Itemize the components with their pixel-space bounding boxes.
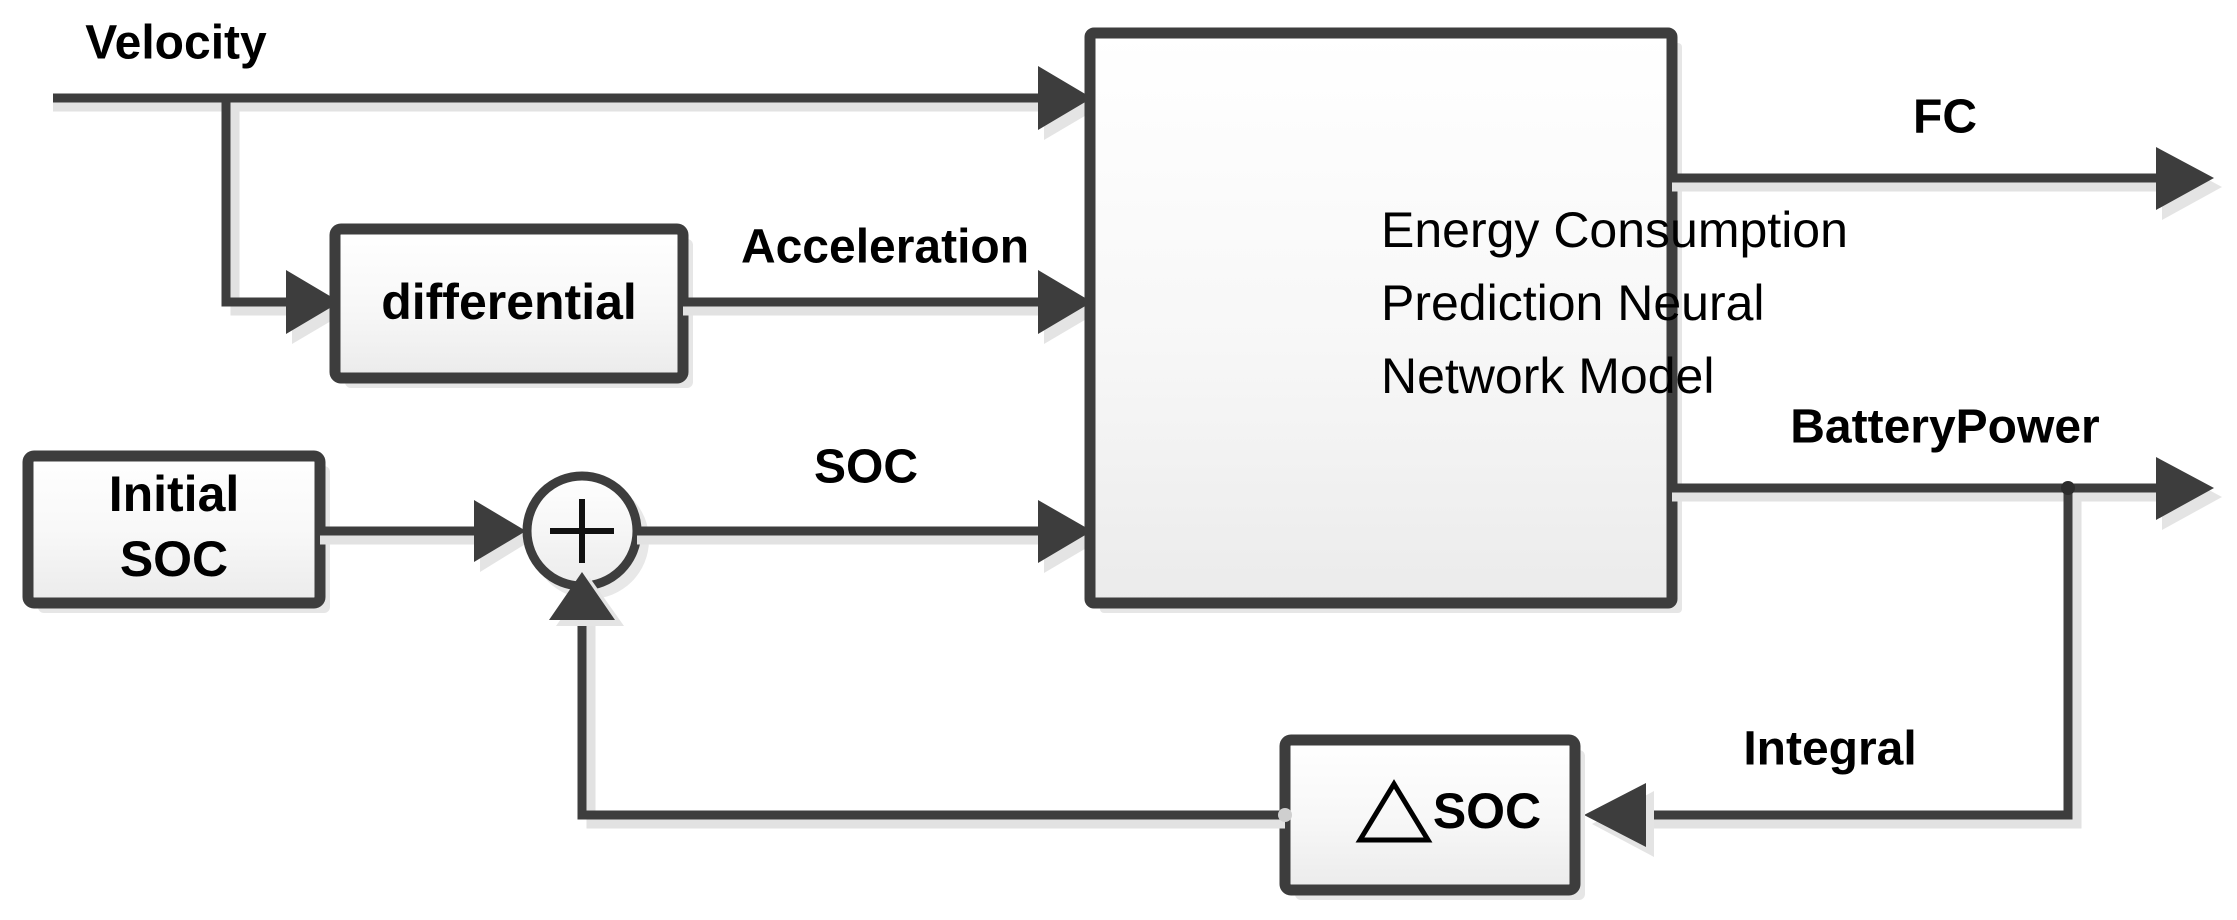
block-energy-model-label-line1: Energy Consumption [1381,202,1848,258]
block-energy-model-label-line2: Prediction Neural [1381,275,1765,331]
signal-label-batterypower: BatteryPower [1790,401,2099,454]
block-energy-model-label-line3: Network Model [1381,348,1714,404]
block-delta-soc[interactable]: SOC △SOC [1285,740,1585,900]
block-diagram-svg: differential Acceleration Velocity Initi… [0,0,2237,920]
block-delta-soc-label-text: SOC [1433,783,1541,839]
block-differential-label: differential [381,274,637,330]
block-diagram-canvas: differential Acceleration Velocity Initi… [0,0,2237,920]
block-energy-model[interactable]: Energy Consumption Prediction Neural Net… [1090,33,1848,613]
connector-acceleration-to-model [683,270,1100,344]
connector-initialsoc-to-sum [320,500,532,572]
summing-junction[interactable] [527,476,649,599]
signal-label-integral: Integral [1743,723,1916,776]
block-initial-soc-label-line1: Initial [109,466,240,522]
block-differential[interactable]: differential [335,229,693,388]
block-initial-soc[interactable]: Initial SOC [28,456,330,613]
block-initial-soc-label-line2: SOC [120,531,228,587]
signal-label-velocity: Velocity [85,17,267,70]
signal-label-acceleration: Acceleration [741,221,1029,274]
connector-soc-to-model [637,500,1100,573]
connector-velocity-to-model [53,66,1100,140]
signal-label-soc: SOC [814,441,918,494]
connector-batterypower-output [1672,457,2222,530]
signal-label-fc: FC [1913,91,1977,144]
